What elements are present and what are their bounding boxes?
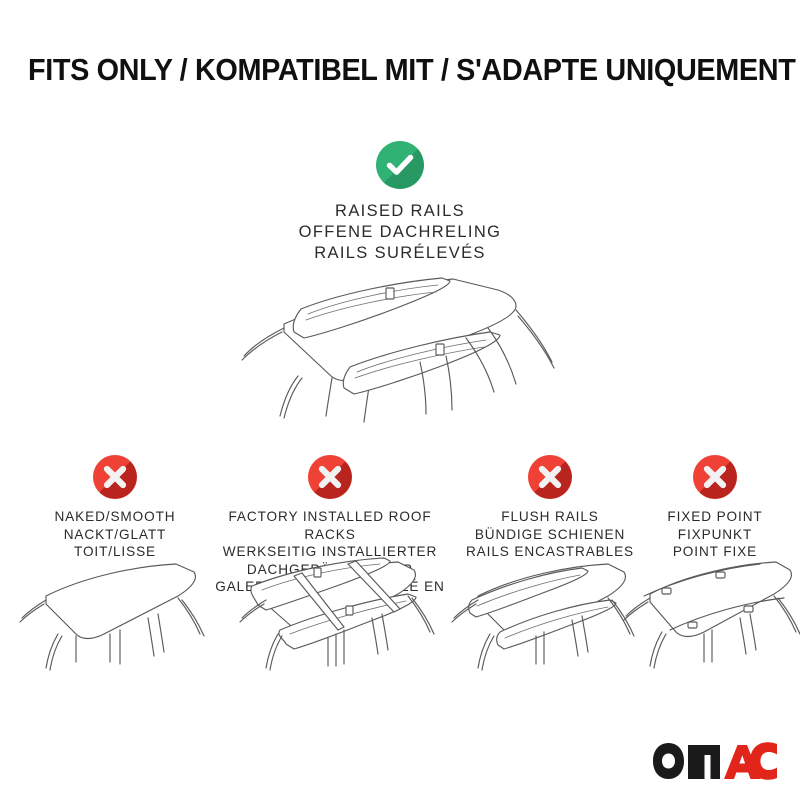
page-title: FITS ONLY / KOMPATIBEL MIT / S'ADAPTE UN… — [28, 52, 772, 88]
raised-rails-label-de: OFFENE DACHRELING — [200, 222, 600, 243]
naked-smooth-label-fr: TOIT/LISSE — [15, 543, 215, 561]
fixed-point-label: FIXED POINT FIXPUNKT POINT FIXE — [630, 508, 800, 561]
car-roof-with-fixed-points-illustration — [618, 558, 800, 682]
factory-roof-racks-label-en: FACTORY INSTALLED ROOF RACKS — [208, 508, 452, 543]
naked-smooth-label: NAKED/SMOOTH NACKT/GLATT TOIT/LISSE — [15, 508, 215, 561]
raised-rails-label-fr: RAILS SURÉLEVÉS — [200, 243, 600, 264]
naked-smooth-label-en: NAKED/SMOOTH — [15, 508, 215, 526]
car-roof-with-raised-rails-illustration — [198, 276, 602, 448]
raised-rails-label: RAISED RAILS OFFENE DACHRELING RAILS SUR… — [200, 201, 600, 264]
x-circle-icon — [93, 455, 137, 499]
flush-rails-label-de: BÜNDIGE SCHIENEN — [452, 526, 648, 544]
flush-rails-label: FLUSH RAILS BÜNDIGE SCHIENEN RAILS ENCAS… — [452, 508, 648, 561]
raised-rails-label-en: RAISED RAILS — [200, 201, 600, 222]
car-roof-bare-illustration — [8, 562, 223, 682]
car-roof-with-flush-rails-illustration — [444, 562, 644, 682]
car-roof-with-rails-and-crossbars-illustration — [222, 556, 450, 684]
check-circle-icon — [376, 141, 424, 189]
x-circle-icon — [308, 455, 352, 499]
x-circle-icon — [528, 455, 572, 499]
fixed-point-label-en: FIXED POINT — [630, 508, 800, 526]
naked-smooth-label-de: NACKT/GLATT — [15, 526, 215, 544]
x-circle-icon — [693, 455, 737, 499]
fixed-point-label-de: FIXPUNKT — [630, 526, 800, 544]
omac-logo — [652, 742, 778, 780]
flush-rails-label-en: FLUSH RAILS — [452, 508, 648, 526]
